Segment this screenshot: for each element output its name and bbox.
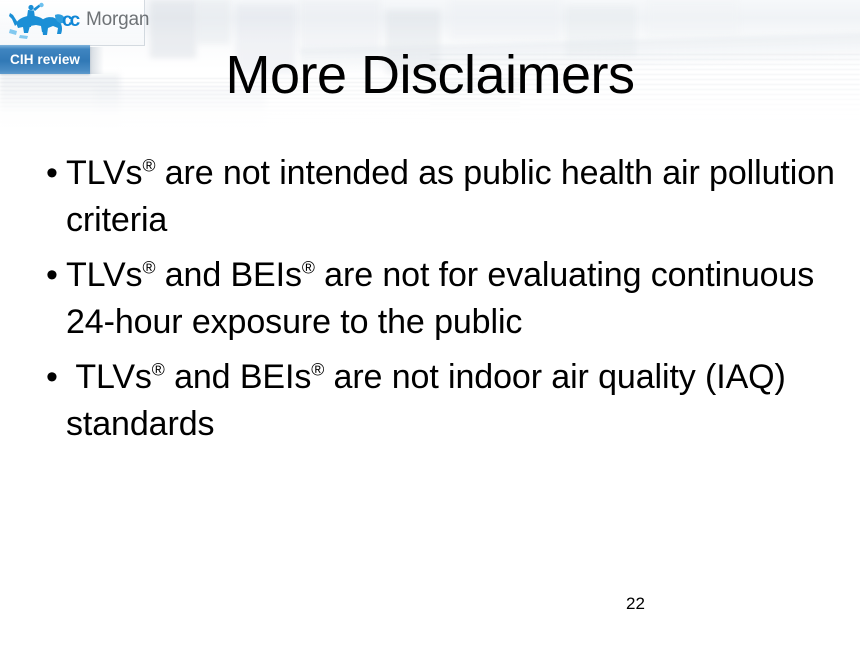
bullet-text: TLVs® and BEIs® are not for evaluating c… <box>66 252 836 346</box>
list-item: • TLVs® and BEIs® are not for evaluating… <box>36 252 836 346</box>
header-decor-block <box>196 0 230 44</box>
page-number: 22 <box>626 595 645 612</box>
logo-wordmark: Morgan <box>86 10 149 29</box>
list-item: • TLVs® are not intended as public healt… <box>36 150 836 244</box>
list-item: • TLVs® and BEIs® are not indoor air qua… <box>36 354 836 448</box>
header-decor-block <box>648 0 738 36</box>
header-decor-block <box>450 0 560 40</box>
bullet-marker: • <box>36 150 66 197</box>
bullet-marker: • <box>36 252 66 299</box>
morgan-equestrian-logo-icon <box>8 1 66 43</box>
bullet-list: • TLVs® are not intended as public healt… <box>36 150 836 456</box>
logo-plate: cc Morgan <box>0 0 145 46</box>
bullet-text: TLVs® are not intended as public health … <box>66 150 836 244</box>
slide: cc Morgan CIH review More Disclaimers • … <box>0 0 860 650</box>
bullet-text: TLVs® and BEIs® are not indoor air quali… <box>66 354 836 448</box>
logo-cc-mark: cc <box>62 11 77 30</box>
bullet-marker: • <box>36 354 66 401</box>
page-title: More Disclaimers <box>0 44 860 106</box>
